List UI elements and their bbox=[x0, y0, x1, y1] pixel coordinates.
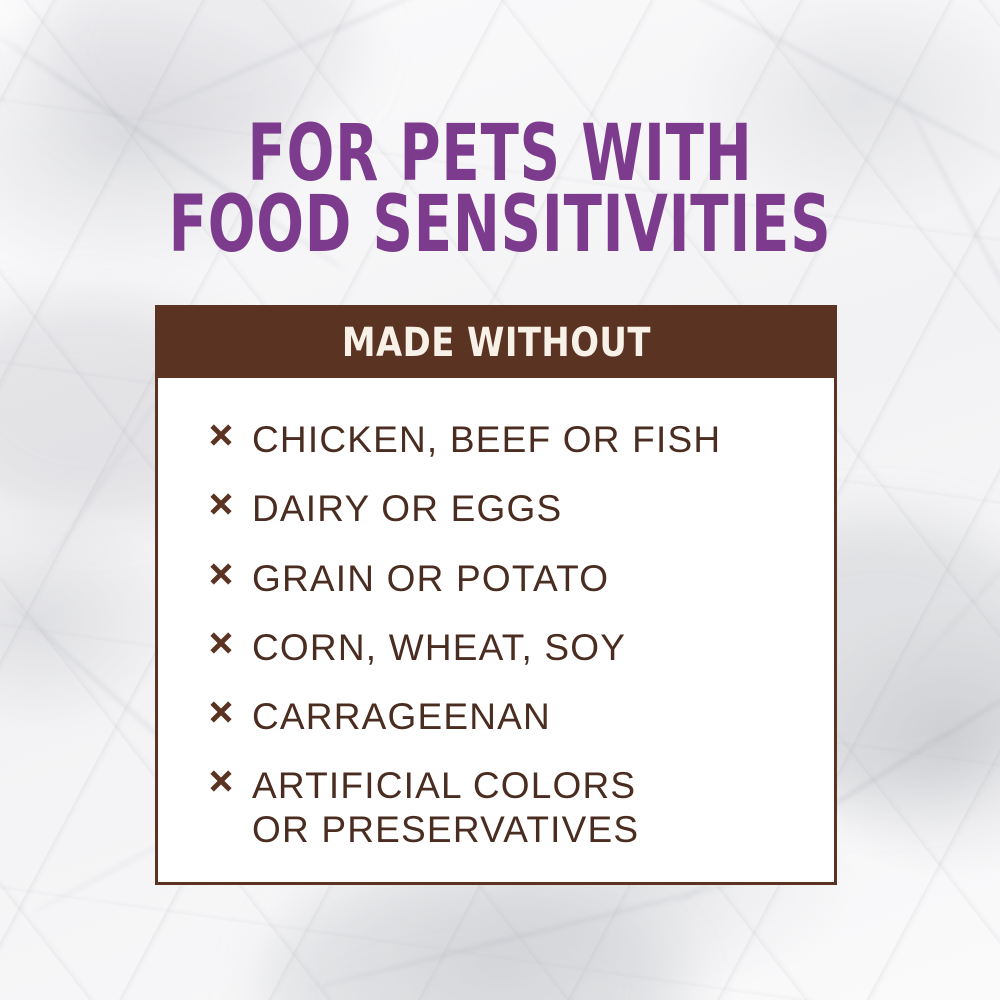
list-item-label: DAIRY OR EGGS bbox=[252, 487, 562, 530]
x-mark-icon bbox=[208, 768, 238, 802]
card-body: CHICKEN, BEEF OR FISHDAIRY OR EGGSGRAIN … bbox=[158, 378, 834, 851]
card-header-title: MADE WITHOUT bbox=[341, 320, 650, 366]
marble-blot bbox=[260, 880, 680, 1000]
made-without-card: MADE WITHOUT CHICKEN, BEEF OR FISHDAIRY … bbox=[155, 305, 837, 885]
list-item: CORN, WHEAT, SOY bbox=[208, 626, 810, 669]
page-title: FOR PETS WITH FOOD SENSITIVITIES bbox=[0, 118, 1000, 261]
x-mark-icon bbox=[208, 630, 238, 664]
list-item-label: GRAIN OR POTATO bbox=[252, 557, 609, 600]
x-mark-icon bbox=[208, 422, 238, 456]
list-item-label: CARRAGEENAN bbox=[252, 695, 551, 738]
list-item: DAIRY OR EGGS bbox=[208, 487, 810, 530]
list-item: GRAIN OR POTATO bbox=[208, 557, 810, 600]
headline-line-2: FOOD SENSITIVITIES bbox=[100, 189, 900, 262]
made-without-list: CHICKEN, BEEF OR FISHDAIRY OR EGGSGRAIN … bbox=[158, 418, 834, 851]
card-header: MADE WITHOUT bbox=[158, 308, 834, 378]
list-item-label: CORN, WHEAT, SOY bbox=[252, 626, 626, 669]
list-item: CARRAGEENAN bbox=[208, 695, 810, 738]
list-item-label: CHICKEN, BEEF OR FISH bbox=[252, 418, 721, 461]
x-mark-icon bbox=[208, 561, 238, 595]
list-item: ARTIFICIAL COLORS OR PRESERVATIVES bbox=[208, 764, 810, 851]
x-mark-icon bbox=[208, 699, 238, 733]
product-infographic: FOR PETS WITH FOOD SENSITIVITIES MADE WI… bbox=[0, 0, 1000, 1000]
list-item: CHICKEN, BEEF OR FISH bbox=[208, 418, 810, 461]
list-item-label: ARTIFICIAL COLORS OR PRESERVATIVES bbox=[252, 764, 639, 851]
x-mark-icon bbox=[208, 491, 238, 525]
